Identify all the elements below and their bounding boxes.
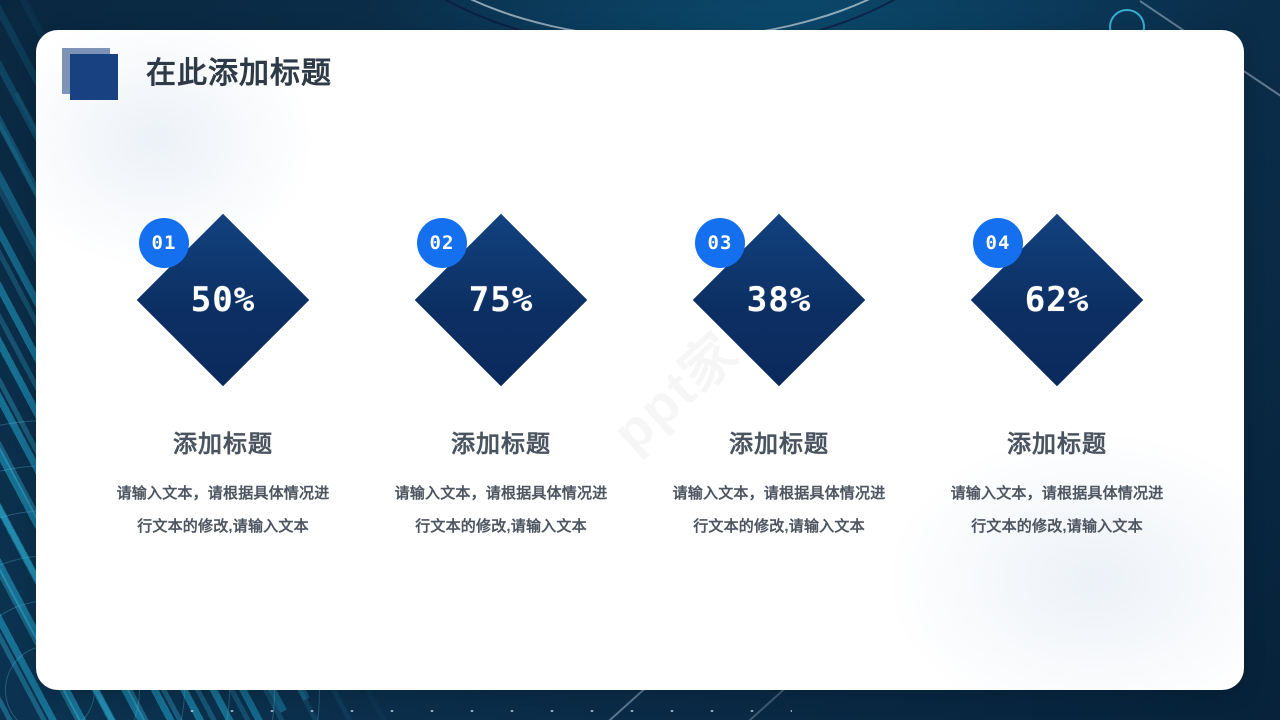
diamond-graphic-1: 50% 01 — [133, 210, 313, 390]
item-body: 请输入文本，请根据具体情况进行文本的修改,请输入文本 — [944, 477, 1170, 543]
diamond-graphic-4: 62% 04 — [967, 210, 1147, 390]
item-title: 添加标题 — [729, 424, 829, 459]
page-title: 在此添加标题 — [146, 59, 332, 89]
stat-item-4[interactable]: 62% 04 添加标题 请输入文本，请根据具体情况进行文本的修改,请输入文本 — [948, 210, 1166, 543]
slide-canvas: ppt家园 在此添加标题 50% 01 添加标题 请输入文本，请根据具体情况进行… — [0, 0, 1280, 720]
slide-header: 在此添加标题 — [62, 48, 332, 100]
stats-row: 50% 01 添加标题 请输入文本，请根据具体情况进行文本的修改,请输入文本 7… — [36, 210, 1244, 543]
number-badge: 03 — [695, 218, 745, 268]
number-badge: 02 — [417, 218, 467, 268]
diamond-graphic-2: 75% 02 — [411, 210, 591, 390]
stat-item-1[interactable]: 50% 01 添加标题 请输入文本，请根据具体情况进行文本的修改,请输入文本 — [114, 210, 332, 543]
number-badge: 01 — [139, 218, 189, 268]
stacked-squares-icon — [62, 48, 124, 100]
item-title: 添加标题 — [451, 424, 551, 459]
item-body: 请输入文本，请根据具体情况进行文本的修改,请输入文本 — [388, 477, 614, 543]
item-body: 请输入文本，请根据具体情况进行文本的修改,请输入文本 — [110, 477, 336, 543]
item-title: 添加标题 — [173, 424, 273, 459]
item-body: 请输入文本，请根据具体情况进行文本的修改,请输入文本 — [666, 477, 892, 543]
diamond-graphic-3: 38% 03 — [689, 210, 869, 390]
stat-item-3[interactable]: 38% 03 添加标题 请输入文本，请根据具体情况进行文本的修改,请输入文本 — [670, 210, 888, 543]
item-title: 添加标题 — [1007, 424, 1107, 459]
content-card: ppt家园 在此添加标题 50% 01 添加标题 请输入文本，请根据具体情况进行… — [36, 30, 1244, 690]
square-front-shape — [70, 54, 118, 100]
stat-item-2[interactable]: 75% 02 添加标题 请输入文本，请根据具体情况进行文本的修改,请输入文本 — [392, 210, 610, 543]
number-badge: 04 — [973, 218, 1023, 268]
